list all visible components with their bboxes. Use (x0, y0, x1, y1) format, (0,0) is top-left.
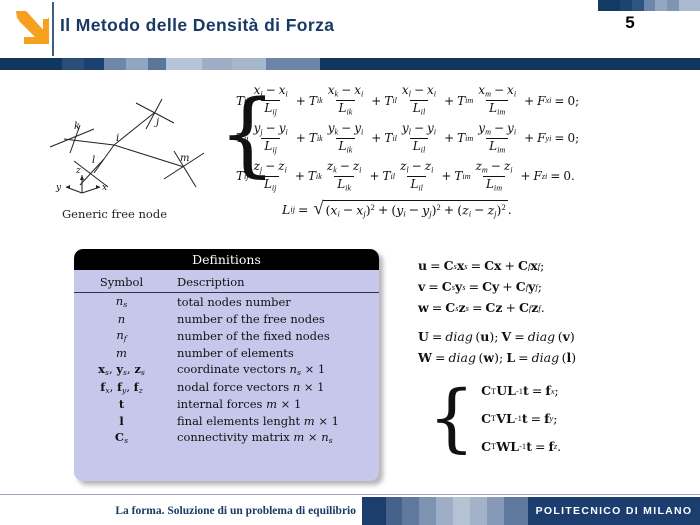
definition-symbol: Cs (74, 429, 169, 447)
matrix-equation: v=Csys=Cy+Cfyf; (418, 279, 690, 294)
equilibrium-row-y: Tijyj−yiLij+Tikyk−yiLik+Tilyl−yiLil+Timy… (236, 122, 698, 155)
column-header-symbol: Symbol (74, 274, 169, 293)
equilibrium-row-x: Tijxj−xiLij+Tikxk−xiLik+Tilxl−xiLil+Timx… (236, 84, 698, 117)
decoration-block (0, 58, 62, 70)
page-title: Il Metodo delle Densità di Forza (60, 15, 334, 36)
equilibrium-rows: Tijxj−xiLij+Tikxk−xiLik+Tilxl−xiLil+Timx… (236, 80, 698, 195)
definition-description: number of the free nodes (169, 311, 379, 327)
matrix-equations-group-2: U=diag (u); V=diag (v)W=diag (w); L=diag… (418, 329, 690, 365)
definition-description: total nodes number (169, 293, 379, 311)
decoration-block (148, 58, 166, 70)
decoration-block (436, 497, 453, 525)
decoration-block (402, 497, 419, 525)
definition-description: number of the fixed nodes (169, 327, 379, 345)
node-label-l: l (92, 155, 95, 166)
decoration-block (644, 0, 655, 11)
decoration-block (232, 58, 266, 70)
definitions-row: nnumber of the free nodes (74, 311, 379, 327)
decoration-block (453, 497, 470, 525)
title-divider (52, 2, 54, 56)
decoration-block (320, 58, 700, 70)
definition-symbol: fx, fy, fz (74, 378, 169, 396)
matrix-equations-group-1: u=Csxs=Cx+Cfxf;v=Csys=Cy+Cfyf;w=Cszs=Cz+… (418, 258, 690, 315)
footer-decoration-blocks (362, 497, 528, 525)
definition-symbol: n (74, 311, 169, 327)
matrix-equation: w=Cszs=Cz+Cfzf. (418, 300, 690, 315)
footer-divider (0, 494, 700, 495)
decoration-block (655, 0, 667, 11)
matrix-equations-block: u=Csxs=Cx+Cfxf;v=Csys=Cy+Cfyf;w=Cszs=Cz+… (418, 258, 690, 460)
definitions-row: nfnumber of the fixed nodes (74, 327, 379, 345)
diag-equation: U=diag (u); V=diag (v) (418, 329, 690, 344)
column-header-description: Description (169, 274, 379, 293)
length-equation: Lij=√(xi−xj)2+(yi−yj)2+(zi−zj)2. (282, 200, 512, 219)
system-brace: { (218, 80, 236, 195)
matrix-system-rows: CTUL-1t=fx;CTVL-1t=fy;CTWL-1t=fz. (475, 377, 690, 460)
decoration-block (598, 0, 620, 11)
axis-label-y: y (55, 183, 62, 193)
definitions-row: Csconnectivity matrix m × ns (74, 429, 379, 447)
definition-description: coordinate vectors ns × 1 (169, 361, 379, 379)
definition-symbol: ns (74, 293, 169, 311)
definitions-table: Symbol Description nstotal nodes numbern… (74, 274, 379, 446)
equilibrium-row-z: Tijzj−ziLij+Tikzk−ziLik+Tilzl−ziLil+Timz… (236, 160, 698, 193)
matrix-system-row: CTWL-1t=fz. (481, 439, 690, 454)
node-label-m: m (180, 153, 189, 164)
node-label-j: j (154, 117, 159, 128)
matrix-equilibrium-system: { CTUL-1t=fx;CTVL-1t=fy;CTWL-1t=fz. (418, 377, 690, 460)
footer-subtitle: La forma. Soluzione di un problema di eq… (115, 505, 356, 517)
slide-header: Il Metodo delle Densità di Forza 5 (0, 0, 700, 56)
matrix-system-row: CTUL-1t=fx; (481, 383, 690, 398)
footer-brand: POLITECNICO DI MILANO (536, 505, 693, 517)
definitions-row: nstotal nodes number (74, 293, 379, 311)
decoration-block (84, 58, 104, 70)
axis-label-z: z (75, 166, 81, 176)
arrow-down-right-icon (14, 8, 50, 48)
equilibrium-equation-system: { Tijxj−xiLij+Tikxk−xiLik+Tilxl−xiLil+Ti… (218, 80, 698, 195)
matrix-system-row: CTVL-1t=fy; (481, 411, 690, 426)
corner-decoration-blocks (598, 0, 700, 11)
definitions-row: mnumber of elements (74, 345, 379, 361)
definition-symbol: m (74, 345, 169, 361)
definition-description: internal forces m × 1 (169, 396, 379, 412)
node-label-k: k (74, 121, 80, 132)
decoration-block (166, 58, 202, 70)
decoration-block (667, 0, 679, 11)
decoration-block (419, 497, 436, 525)
decoration-block (679, 0, 700, 11)
slide-number: 5 (600, 13, 660, 33)
decoration-block (104, 58, 126, 70)
node-label-i: i (116, 133, 119, 144)
decoration-block (266, 58, 320, 70)
definition-symbol: l (74, 412, 169, 428)
decoration-block (487, 497, 504, 525)
matrix-system-brace: { (428, 377, 475, 460)
definition-description: nodal force vectors n × 1 (169, 378, 379, 396)
brace-glyph: { (428, 377, 475, 460)
definitions-row: xs, ys, zscoordinate vectors ns × 1 (74, 361, 379, 379)
decoration-block (62, 58, 84, 70)
axis-label-x: x (102, 183, 107, 193)
definitions-row: fx, fy, fznodal force vectors n × 1 (74, 378, 379, 396)
definitions-card: Definitions Symbol Description nstotal n… (74, 249, 379, 481)
brace-glyph: { (218, 80, 236, 189)
definitions-body: nstotal nodes numbernnumber of the free … (74, 293, 379, 447)
definition-description: connectivity matrix m × ns (169, 429, 379, 447)
definitions-header-row: Symbol Description (74, 274, 379, 293)
definitions-title: Definitions (74, 249, 379, 270)
decoration-block (126, 58, 148, 70)
matrix-equation: u=Csxs=Cx+Cfxf; (418, 258, 690, 273)
decoration-block (620, 0, 632, 11)
footer-brand-zone: POLITECNICO DI MILANO (528, 497, 700, 525)
definition-description: number of elements (169, 345, 379, 361)
decoration-block (362, 497, 386, 525)
footer-text-zone: La forma. Soluzione di un problema di eq… (0, 497, 362, 525)
slide-footer: La forma. Soluzione di un problema di eq… (0, 497, 700, 525)
definition-symbol: nf (74, 327, 169, 345)
header-decoration-band (0, 58, 700, 70)
decoration-block (470, 497, 487, 525)
figure-caption: Generic free node (62, 207, 167, 221)
definitions-row: lfinal elements lenght m × 1 (74, 412, 379, 428)
decoration-block (386, 497, 402, 525)
definitions-row: tinternal forces m × 1 (74, 396, 379, 412)
decoration-block (632, 0, 644, 11)
definition-symbol: xs, ys, zs (74, 361, 169, 379)
diag-equation: W=diag (w); L=diag (l) (418, 350, 690, 365)
definition-description: final elements lenght m × 1 (169, 412, 379, 428)
definition-symbol: t (74, 396, 169, 412)
decoration-block (504, 497, 528, 525)
coordinate-axes (66, 175, 100, 193)
decoration-block (202, 58, 232, 70)
generic-free-node-diagram: i j k l m z y x (46, 95, 246, 200)
